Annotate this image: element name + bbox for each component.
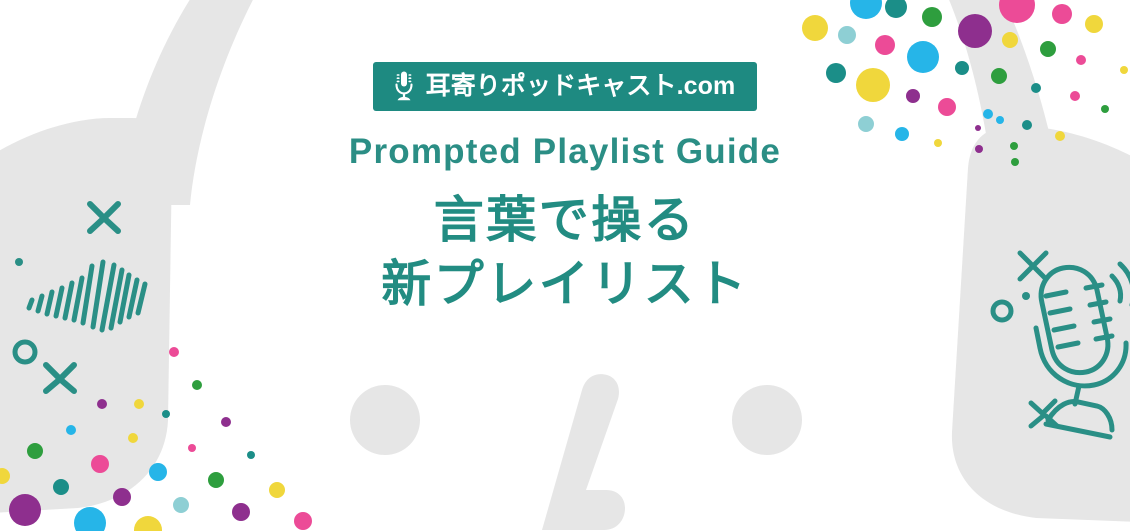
sparkle-icon	[90, 204, 118, 231]
dot-icon	[15, 258, 23, 266]
microphone-icon	[393, 71, 415, 101]
ring-icon	[15, 342, 35, 362]
ring-icon	[993, 302, 1011, 320]
brand-badge[interactable]: 耳寄りポッドキャスト.com	[373, 62, 758, 111]
sparkle-icon	[1020, 253, 1046, 279]
brand-name: 耳寄りポッドキャスト.com	[426, 74, 736, 99]
waveform-icon	[29, 262, 145, 330]
vintage-microphone-icon	[1036, 264, 1130, 437]
dot-icon	[1022, 292, 1030, 300]
hero-banner: 耳寄りポッドキャスト.com Prompted Playlist Guide 言…	[0, 0, 1130, 531]
sparkle-icon	[46, 365, 74, 391]
